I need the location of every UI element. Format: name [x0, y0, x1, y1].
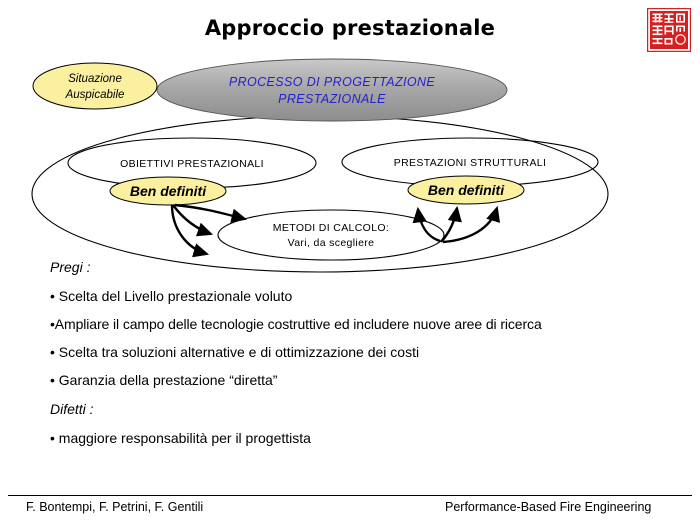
situazione-auspicabile-ellipse — [33, 63, 157, 109]
body-text-block: Pregi : • Scelta del Livello prestaziona… — [0, 252, 700, 452]
pregi-heading: Pregi : — [50, 252, 700, 282]
footer-subject: Performance-Based Fire Engineering — [445, 500, 651, 514]
ben-definiti-right-label: Ben definiti — [428, 182, 505, 198]
pregi-item-2: •Ampliare il campo delle tecnologie cost… — [50, 310, 700, 338]
processo-label-line1: PROCESSO DI PROGETTAZIONE — [229, 75, 436, 89]
slide-canvas: Approccio prestazionale — [0, 0, 700, 525]
processo-ellipse — [157, 59, 507, 121]
metodi-label-line2: Vari, da scegliere — [288, 237, 375, 249]
metodi-label-line1: METODI DI CALCOLO: — [273, 222, 389, 234]
footer: F. Bontempi, F. Petrini, F. Gentili Perf… — [0, 500, 700, 522]
right-flow-arrows — [418, 208, 497, 242]
obiettivi-label: OBIETTIVI PRESTAZIONALI — [120, 158, 264, 170]
prestazioni-label: PRESTAZIONI STRUTTURALI — [394, 157, 547, 169]
difetti-heading: Difetti : — [50, 394, 700, 424]
left-flow-arrows — [172, 205, 245, 254]
pregi-item-4: • Garanzia della prestazione “diretta” — [50, 366, 700, 394]
page-title: Approccio prestazionale — [0, 16, 700, 40]
pregi-item-3: • Scelta tra soluzioni alternative e di … — [50, 338, 700, 366]
red-seal-logo — [647, 8, 691, 52]
situazione-label-line1: Situazione — [68, 73, 122, 85]
difetti-item-1: • maggiore responsabilità per il progett… — [50, 424, 700, 452]
footer-authors: F. Bontempi, F. Petrini, F. Gentili — [26, 500, 203, 514]
performance-process-diagram: PROCESSO DI PROGETTAZIONE PRESTAZIONALE … — [0, 48, 700, 273]
processo-label-line2: PRESTAZIONALE — [278, 92, 386, 106]
situazione-label-line2: Auspicabile — [65, 89, 125, 101]
ben-definiti-left-label: Ben definiti — [130, 183, 207, 199]
footer-divider — [8, 495, 692, 496]
pregi-item-1: • Scelta del Livello prestazionale volut… — [50, 282, 700, 310]
